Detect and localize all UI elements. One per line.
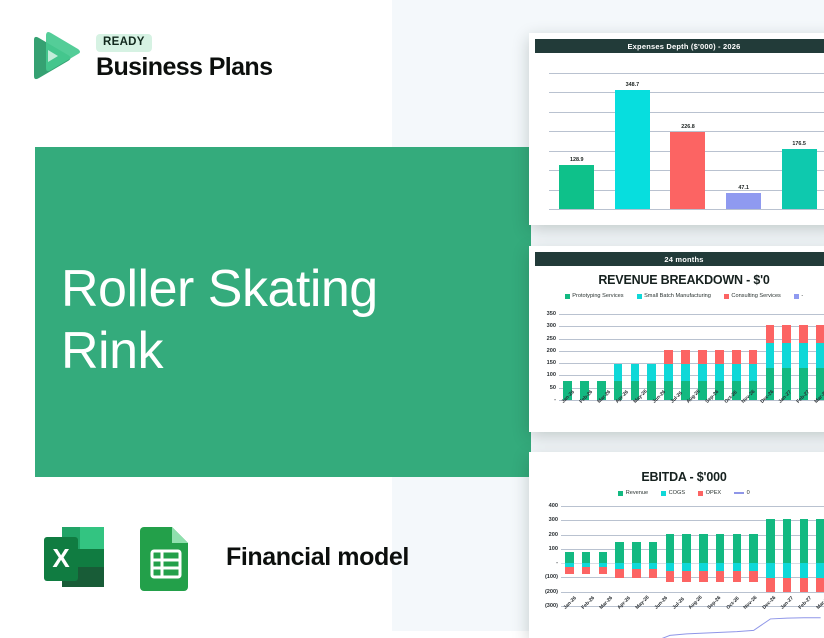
stacked-column bbox=[647, 314, 656, 400]
stacked-column bbox=[615, 506, 624, 606]
y-axis-tick: - bbox=[556, 560, 558, 566]
page-title: Roller Skating Rink bbox=[61, 258, 491, 383]
stacked-column bbox=[733, 506, 742, 606]
legend-swatch bbox=[637, 294, 642, 299]
bar-segment bbox=[749, 571, 758, 582]
legend-item: Consulting Services bbox=[724, 293, 781, 299]
legend-label: Consulting Services bbox=[731, 293, 780, 299]
bar-slot bbox=[762, 506, 779, 606]
bar-segment bbox=[699, 534, 708, 563]
bar-segment bbox=[664, 364, 673, 381]
bar-segment bbox=[599, 567, 608, 574]
bar-slot bbox=[745, 314, 762, 400]
y-axis-tick: (300) bbox=[545, 603, 558, 609]
y-axis-tick: 250 bbox=[547, 336, 556, 342]
bar-slot bbox=[711, 314, 728, 400]
bar-slot bbox=[728, 314, 745, 400]
legend-label: - bbox=[801, 293, 803, 299]
legend-item: OPEX bbox=[698, 490, 721, 496]
bar-value-label: 176.5 bbox=[792, 141, 806, 147]
bar-segment bbox=[749, 350, 758, 364]
bar-segment bbox=[800, 519, 809, 563]
legend-swatch bbox=[618, 491, 623, 496]
bar-slot bbox=[595, 506, 612, 606]
stacked-column bbox=[597, 314, 606, 400]
brand-text-block: READY Business Plans bbox=[96, 34, 272, 80]
y-axis-tick: 150 bbox=[547, 360, 556, 366]
stacked-column bbox=[666, 506, 675, 606]
bar bbox=[670, 132, 705, 209]
bar-slot bbox=[628, 506, 645, 606]
stacked-column bbox=[766, 314, 775, 400]
legend-label: 0 bbox=[747, 490, 750, 496]
bar-segment bbox=[783, 519, 792, 563]
bar-slot bbox=[561, 506, 578, 606]
ebitda-plot: 400300200100-(100)(200)(300)Jan-26Feb-26… bbox=[561, 506, 824, 606]
ebitda-legend: RevenueCOGSOPEX0 bbox=[535, 490, 824, 496]
bar-segment bbox=[766, 563, 775, 578]
y-axis-tick: (200) bbox=[545, 589, 558, 595]
stacked-column bbox=[800, 506, 809, 606]
legend-item: 0 bbox=[734, 490, 750, 496]
bar-slot bbox=[610, 314, 627, 400]
stacked-column bbox=[664, 314, 673, 400]
svg-text:X: X bbox=[52, 543, 70, 573]
bar-segment bbox=[716, 571, 725, 582]
bar-segment bbox=[782, 343, 791, 368]
stacked-column bbox=[766, 506, 775, 606]
bar-slot bbox=[645, 506, 662, 606]
bar-segment bbox=[733, 571, 742, 582]
bar-slot bbox=[611, 506, 628, 606]
bar-segment bbox=[698, 364, 707, 381]
footer-label: Financial model bbox=[226, 543, 409, 572]
stacked-column bbox=[699, 506, 708, 606]
expenses-depth-header: Expenses Depth ($'000) - 2026 bbox=[535, 39, 824, 53]
bar-segment bbox=[816, 563, 824, 578]
x-axis-labels: Jan-26Feb-26Mar-26Apr-26May-26Jun-26Jul-… bbox=[561, 606, 824, 614]
stacked-column bbox=[799, 314, 808, 400]
bar-segment bbox=[681, 364, 690, 381]
bar-slot bbox=[695, 506, 712, 606]
stacked-column bbox=[816, 314, 824, 400]
microsoft-excel-icon: X bbox=[36, 519, 112, 595]
brand-name: Business Plans bbox=[96, 54, 272, 80]
x-axis-labels: Jan-26Feb-26Mar-26Apr-26May-26Jun-26Jul-… bbox=[559, 400, 824, 408]
legend-item: Prototyping Services bbox=[565, 293, 624, 299]
stacked-column bbox=[580, 314, 589, 400]
bar-value-label: 128.9 bbox=[570, 157, 584, 163]
y-axis-tick: 300 bbox=[549, 517, 558, 523]
stacked-column bbox=[632, 506, 641, 606]
bar-segment bbox=[816, 325, 824, 343]
bar-slot bbox=[812, 314, 824, 400]
bar-segment bbox=[749, 534, 758, 563]
bar-segment bbox=[682, 563, 691, 571]
bar-segment bbox=[749, 563, 758, 571]
bar-slot: 47.1 bbox=[716, 73, 772, 209]
stacked-column bbox=[649, 506, 658, 606]
ebitda-card: EBITDA - $'000 RevenueCOGSOPEX0 40030020… bbox=[529, 452, 824, 638]
legend-swatch bbox=[794, 294, 799, 299]
stacked-column bbox=[749, 314, 758, 400]
stacked-column bbox=[681, 314, 690, 400]
bar-slot bbox=[778, 314, 795, 400]
bar-segment bbox=[816, 519, 824, 563]
legend-label: Revenue bbox=[626, 490, 648, 496]
bar-slot bbox=[678, 506, 695, 606]
bar-segment bbox=[664, 350, 673, 364]
bar-segment bbox=[766, 325, 775, 343]
stacked-column bbox=[631, 314, 640, 400]
bar-segment bbox=[599, 552, 608, 563]
bar-segment bbox=[783, 563, 792, 578]
revenue-breakdown-header: 24 months bbox=[535, 252, 824, 266]
stacked-column bbox=[614, 314, 623, 400]
legend-item: Small Batch Manufacturing bbox=[637, 293, 711, 299]
bar-slot bbox=[762, 314, 779, 400]
legend-label: OPEX bbox=[706, 490, 722, 496]
stacked-column bbox=[563, 314, 572, 400]
brand-lockup: READY Business Plans bbox=[24, 28, 272, 86]
bar-segment bbox=[631, 364, 640, 381]
bar-slot bbox=[745, 506, 762, 606]
bar-slot bbox=[677, 314, 694, 400]
bar-slot: 176.5 bbox=[771, 73, 824, 209]
bar-segment bbox=[698, 350, 707, 364]
bar-segment bbox=[614, 364, 623, 381]
stacked-column bbox=[582, 506, 591, 606]
legend-swatch bbox=[724, 294, 729, 299]
stacked-column bbox=[732, 314, 741, 400]
legend-label: Prototyping Services bbox=[572, 293, 623, 299]
legend-swatch bbox=[734, 492, 744, 494]
y-axis-tick: 100 bbox=[547, 372, 556, 378]
bar-segment bbox=[816, 578, 824, 592]
bar-segment bbox=[649, 542, 658, 563]
stacked-column bbox=[716, 506, 725, 606]
bar-segment bbox=[733, 563, 742, 571]
legend-label: Small Batch Manufacturing bbox=[644, 293, 711, 299]
stacked-column bbox=[816, 506, 824, 606]
stacked-column bbox=[565, 506, 574, 606]
bar-segment bbox=[715, 350, 724, 364]
legend-swatch bbox=[661, 491, 666, 496]
stacked-bars bbox=[561, 506, 824, 606]
bar-segment bbox=[565, 552, 574, 563]
bar-segment bbox=[799, 325, 808, 343]
bar-segment bbox=[800, 563, 809, 578]
y-axis-tick: 200 bbox=[547, 348, 556, 354]
bar-value-label: 226.8 bbox=[681, 124, 695, 130]
bar-slot bbox=[578, 506, 595, 606]
bar-segment bbox=[733, 534, 742, 563]
y-axis-tick: 400 bbox=[549, 503, 558, 509]
bar-segment bbox=[766, 578, 775, 592]
bar-segment bbox=[766, 519, 775, 563]
legend-swatch bbox=[565, 294, 570, 299]
y-axis-tick: 50 bbox=[550, 385, 556, 391]
bar-segment bbox=[766, 343, 775, 368]
bar-slot bbox=[662, 506, 679, 606]
expenses-depth-card: Expenses Depth ($'000) - 2026 128.9348.7… bbox=[529, 33, 824, 225]
stacked-column bbox=[715, 314, 724, 400]
y-axis-tick: 300 bbox=[547, 323, 556, 329]
bar-slot: 128.9 bbox=[549, 73, 605, 209]
legend-swatch bbox=[698, 491, 703, 496]
legend-item: - bbox=[794, 293, 803, 299]
bar-segment bbox=[782, 325, 791, 343]
stacked-column bbox=[783, 506, 792, 606]
stacked-column bbox=[599, 506, 608, 606]
bar-segment bbox=[749, 364, 758, 381]
bar-slot bbox=[712, 506, 729, 606]
legend-item: Revenue bbox=[618, 490, 648, 496]
stacked-column bbox=[749, 506, 758, 606]
bar-slot bbox=[593, 314, 610, 400]
bar-segment bbox=[565, 567, 574, 574]
expenses-depth-plot: 128.9348.7226.847.1176.5 bbox=[549, 73, 824, 209]
bar-slot bbox=[559, 314, 576, 400]
bar-segment bbox=[699, 571, 708, 582]
bar-segment bbox=[632, 569, 641, 578]
bar-segment bbox=[649, 569, 658, 578]
bar-segment bbox=[732, 350, 741, 364]
revenue-breakdown-title: REVENUE BREAKDOWN - $'0 bbox=[535, 273, 824, 287]
bar-slot bbox=[796, 506, 813, 606]
bar bbox=[559, 165, 594, 209]
ready-badge: READY bbox=[96, 34, 152, 52]
bar-slot bbox=[729, 506, 746, 606]
bar-slot bbox=[643, 314, 660, 400]
bar-slot bbox=[576, 314, 593, 400]
bar-segment bbox=[666, 534, 675, 563]
revenue-breakdown-plot: 35030025020015010050-Jan-26Feb-26Mar-26A… bbox=[559, 314, 824, 400]
bar-segment bbox=[682, 571, 691, 582]
bar-slot bbox=[694, 314, 711, 400]
bar-segment bbox=[699, 563, 708, 571]
bar-segment bbox=[816, 343, 824, 368]
bar-slot bbox=[779, 506, 796, 606]
bar bbox=[726, 193, 761, 209]
bar-segment bbox=[716, 534, 725, 563]
stacked-column bbox=[698, 314, 707, 400]
bar-segment bbox=[716, 563, 725, 571]
bar-segment bbox=[732, 364, 741, 381]
y-axis-tick: 100 bbox=[549, 546, 558, 552]
bar-segment bbox=[666, 571, 675, 582]
bar-slot bbox=[795, 314, 812, 400]
bar-slot: 226.8 bbox=[660, 73, 716, 209]
bar-slot bbox=[812, 506, 824, 606]
bar-segment bbox=[615, 542, 624, 563]
bar-segment bbox=[615, 569, 624, 578]
stacked-column bbox=[682, 506, 691, 606]
bar-segment bbox=[800, 578, 809, 592]
bar-segment bbox=[681, 350, 690, 364]
play-logo-icon bbox=[24, 28, 82, 86]
revenue-breakdown-legend: Prototyping ServicesSmall Batch Manufact… bbox=[535, 293, 824, 299]
bar-slot: 348.7 bbox=[605, 73, 661, 209]
y-axis-tick: 350 bbox=[547, 311, 556, 317]
bar-segment bbox=[799, 343, 808, 368]
bar-segment bbox=[647, 364, 656, 381]
bar bbox=[615, 90, 650, 209]
y-axis-tick: (100) bbox=[545, 574, 558, 580]
bar-slot bbox=[660, 314, 677, 400]
bar-segment bbox=[682, 534, 691, 563]
footer-row: X Financial model bbox=[36, 519, 409, 595]
bar-segment bbox=[582, 567, 591, 574]
ebitda-title: EBITDA - $'000 bbox=[535, 470, 824, 484]
google-sheets-icon bbox=[128, 519, 204, 595]
bar-segment bbox=[783, 578, 792, 592]
bar-value-label: 47.1 bbox=[738, 185, 749, 191]
y-axis-tick: - bbox=[554, 397, 556, 403]
bar-slot bbox=[627, 314, 644, 400]
y-axis-tick: 200 bbox=[549, 532, 558, 538]
bar-segment bbox=[632, 542, 641, 563]
poster-canvas: READY Business Plans Roller Skating Rink… bbox=[0, 0, 824, 631]
revenue-breakdown-card: 24 months REVENUE BREAKDOWN - $'0 Protot… bbox=[529, 246, 824, 432]
legend-item: COGS bbox=[661, 490, 685, 496]
bar-segment bbox=[715, 364, 724, 381]
stacked-column bbox=[782, 314, 791, 400]
bar-segment bbox=[582, 552, 591, 563]
stacked-bars bbox=[559, 314, 824, 400]
bar-value-label: 348.7 bbox=[626, 82, 640, 88]
legend-label: COGS bbox=[669, 490, 685, 496]
bar-segment bbox=[666, 563, 675, 571]
bar bbox=[782, 149, 817, 209]
